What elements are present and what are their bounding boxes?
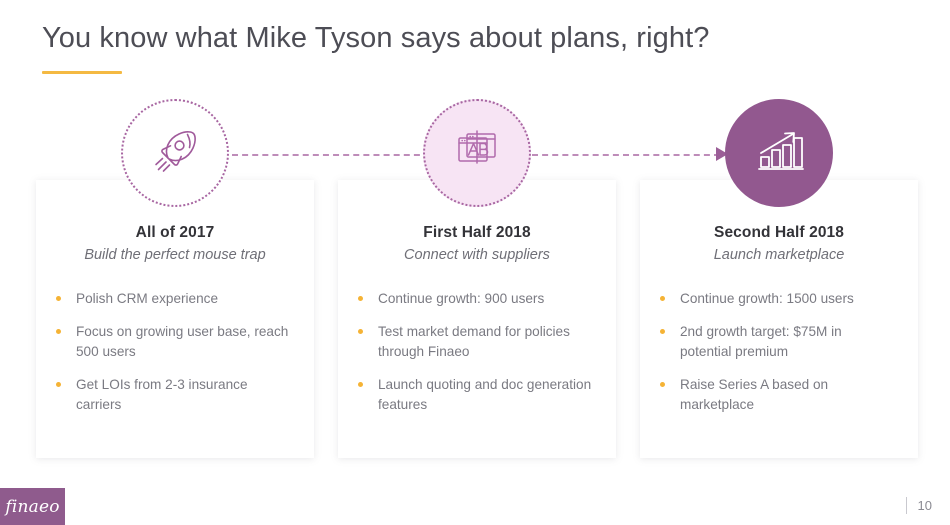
list-item: Polish CRM experience — [52, 289, 292, 309]
bullet-dot-icon — [56, 296, 61, 301]
bullet-dot-icon — [358, 296, 363, 301]
list-item-text: Continue growth: 900 users — [378, 291, 544, 306]
bullet-dot-icon — [56, 382, 61, 387]
card-heading: Second Half 2018 — [640, 224, 918, 242]
list-item: Launch quoting and doc generation featur… — [354, 375, 594, 415]
list-item-text: Launch quoting and doc generation featur… — [378, 377, 591, 412]
bullet-dot-icon — [358, 382, 363, 387]
timeline-connector-2 — [532, 154, 720, 156]
card-subheading: Build the perfect mouse trap — [36, 247, 314, 263]
card-subheading: Connect with suppliers — [338, 247, 616, 263]
page-title: You know what Mike Tyson says about plan… — [42, 22, 709, 55]
list-item: Raise Series A based on marketplace — [656, 375, 896, 415]
card-heading: First Half 2018 — [338, 224, 616, 242]
growth-chart-icon — [751, 125, 807, 182]
bullet-dot-icon — [660, 329, 665, 334]
list-item: Get LOIs from 2-3 insurance carriers — [52, 375, 292, 415]
timeline-arrowhead-icon — [716, 147, 728, 161]
page-number: 10 — [918, 498, 932, 513]
card-bullet-list: Continue growth: 1500 users 2nd growth t… — [640, 289, 918, 415]
list-item-text: Test market demand for policies through … — [378, 324, 570, 359]
bullet-dot-icon — [660, 296, 665, 301]
milestone-card-h2-2018: Second Half 2018 Launch marketplace Cont… — [640, 180, 918, 458]
list-item-text: Continue growth: 1500 users — [680, 291, 854, 306]
finaeo-logo-text: finaeo — [5, 497, 59, 517]
title-accent-underline — [42, 71, 122, 74]
bullet-dot-icon — [660, 382, 665, 387]
timeline-connector-1 — [232, 154, 430, 156]
card-bullet-list: Polish CRM experience Focus on growing u… — [36, 289, 314, 415]
list-item-text: 2nd growth target: $75M in potential pre… — [680, 324, 842, 359]
milestone-card-h1-2018: First Half 2018 Connect with suppliers C… — [338, 180, 616, 458]
finaeo-logo: finaeo — [0, 488, 65, 525]
list-item: 2nd growth target: $75M in potential pre… — [656, 322, 896, 362]
milestone-card-2017: All of 2017 Build the perfect mouse trap… — [36, 180, 314, 458]
list-item: Continue growth: 1500 users — [656, 289, 896, 309]
list-item-text: Polish CRM experience — [76, 291, 218, 306]
bullet-dot-icon — [56, 329, 61, 334]
list-item: Test market demand for policies through … — [354, 322, 594, 362]
ab-test-icon — [451, 125, 503, 182]
list-item-text: Raise Series A based on marketplace — [680, 377, 828, 412]
list-item-text: Focus on growing user base, reach 500 us… — [76, 324, 288, 359]
list-item-text: Get LOIs from 2-3 insurance carriers — [76, 377, 248, 412]
page-number-divider — [906, 497, 907, 514]
card-heading: All of 2017 — [36, 224, 314, 242]
rocket-icon — [148, 124, 202, 183]
list-item: Focus on growing user base, reach 500 us… — [52, 322, 292, 362]
list-item: Continue growth: 900 users — [354, 289, 594, 309]
card-bullet-list: Continue growth: 900 users Test market d… — [338, 289, 616, 415]
page-number-group: 10 — [906, 497, 932, 514]
card-subheading: Launch marketplace — [640, 247, 918, 263]
bullet-dot-icon — [358, 329, 363, 334]
